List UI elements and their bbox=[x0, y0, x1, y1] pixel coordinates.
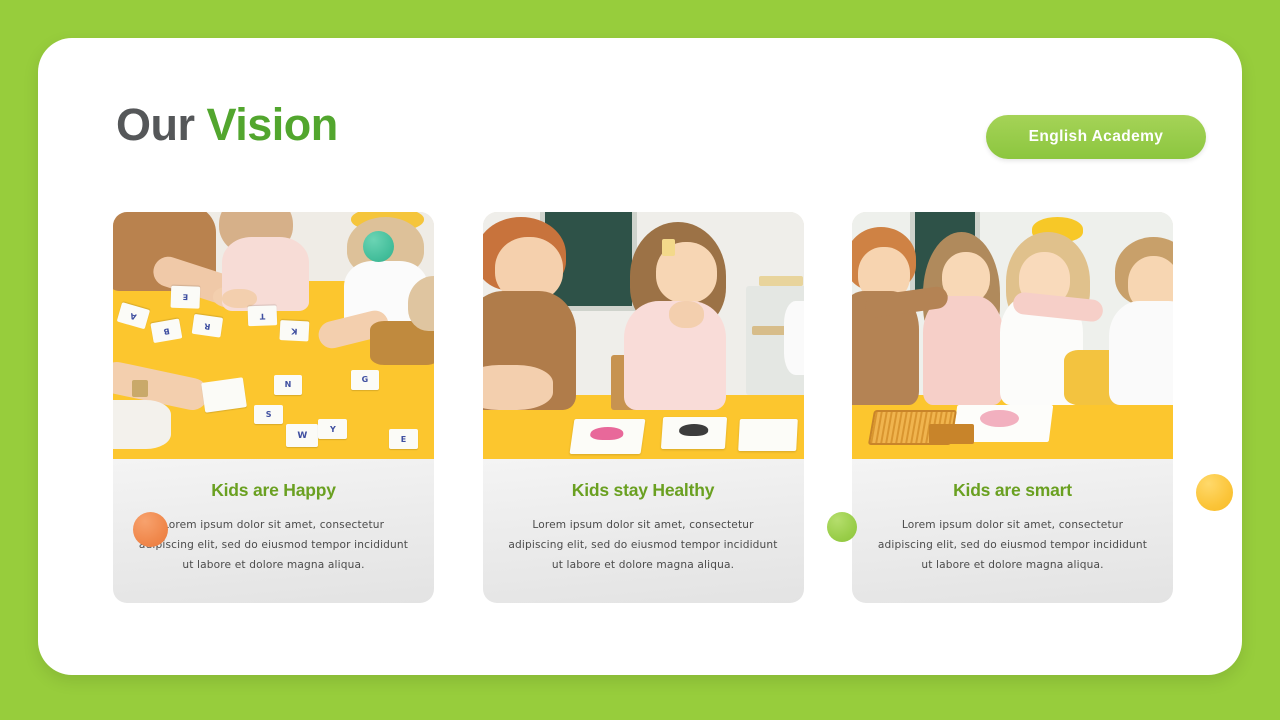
card-1-title: Kids are Happy bbox=[137, 480, 410, 501]
english-academy-badge[interactable]: English Academy bbox=[986, 115, 1206, 159]
card-3-photo bbox=[852, 212, 1173, 459]
page-title-accent: Vision bbox=[207, 99, 338, 150]
scene-boy-girl-cards bbox=[483, 212, 804, 459]
green-circle-decoration bbox=[827, 512, 857, 542]
vision-card-1[interactable]: E A B R T K N S W Y E G Kids are Happy L bbox=[113, 212, 434, 603]
card-3-title: Kids are smart bbox=[876, 480, 1149, 501]
card-3-body: Kids are smart Lorem ipsum dolor sit ame… bbox=[852, 459, 1173, 603]
scene-four-smiling-kids bbox=[852, 212, 1173, 459]
card-3-text: Lorem ipsum dolor sit amet, consectetur … bbox=[876, 515, 1149, 575]
vision-cards-row: E A B R T K N S W Y E G Kids are Happy L bbox=[113, 212, 1173, 603]
card-2-text: Lorem ipsum dolor sit amet, consectetur … bbox=[507, 515, 780, 575]
badge-label: English Academy bbox=[1029, 128, 1164, 146]
orange-circle-decoration bbox=[133, 512, 168, 547]
vision-card-3[interactable]: Kids are smart Lorem ipsum dolor sit ame… bbox=[852, 212, 1173, 603]
vision-card-2[interactable]: Kids stay Healthy Lorem ipsum dolor sit … bbox=[483, 212, 804, 603]
card-2-body: Kids stay Healthy Lorem ipsum dolor sit … bbox=[483, 459, 804, 603]
page-title: Our Vision bbox=[116, 99, 338, 151]
page-title-part1: Our bbox=[116, 99, 195, 150]
card-2-title: Kids stay Healthy bbox=[507, 480, 780, 501]
card-1-text: Lorem ipsum dolor sit amet, consectetur … bbox=[137, 515, 410, 575]
card-2-photo bbox=[483, 212, 804, 459]
slide-panel: Our Vision English Academy bbox=[38, 38, 1242, 675]
yellow-circle-decoration bbox=[1196, 474, 1233, 511]
teal-circle-decoration bbox=[363, 231, 394, 262]
